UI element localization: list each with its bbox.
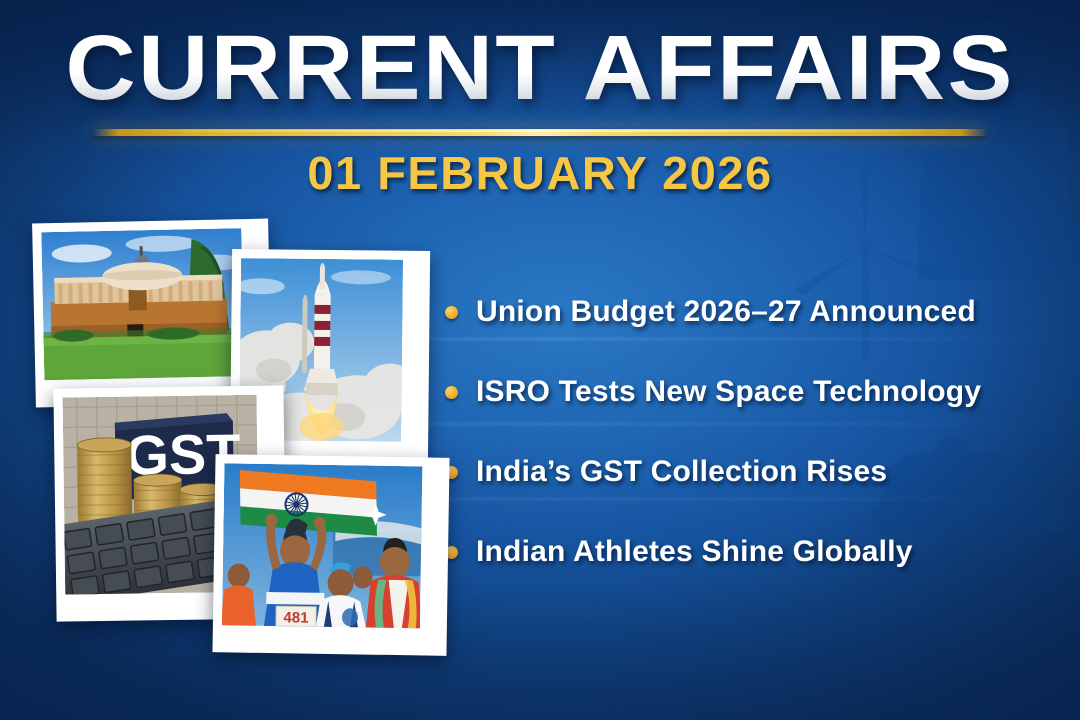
gold-divider (92, 129, 988, 136)
athletes-photo: 481 (212, 454, 449, 656)
poster-date: 01 FEBRUARY 2026 (0, 146, 1080, 200)
bullet-dot-icon (445, 306, 458, 319)
current-affairs-poster: CURRENT AFFAIRS 01 FEBRUARY 2026 (0, 0, 1080, 720)
bullet-dot-icon (445, 386, 458, 399)
news-headline: Union Budget 2026–27 Announced (476, 295, 976, 329)
list-item[interactable]: India’s GST Collection Rises (445, 432, 1005, 512)
list-item[interactable]: ISRO Tests New Space Technology (445, 352, 1005, 432)
news-headline-list: Union Budget 2026–27 Announced ISRO Test… (445, 272, 1005, 592)
list-item[interactable]: Indian Athletes Shine Globally (445, 512, 1005, 592)
news-headline: ISRO Tests New Space Technology (476, 375, 981, 409)
page-title: CURRENT AFFAIRS (0, 22, 1080, 114)
list-item[interactable]: Union Budget 2026–27 Announced (445, 272, 1005, 352)
news-headline: India’s GST Collection Rises (476, 455, 887, 489)
news-headline: Indian Athletes Shine Globally (476, 535, 913, 569)
svg-text:481: 481 (283, 609, 308, 626)
